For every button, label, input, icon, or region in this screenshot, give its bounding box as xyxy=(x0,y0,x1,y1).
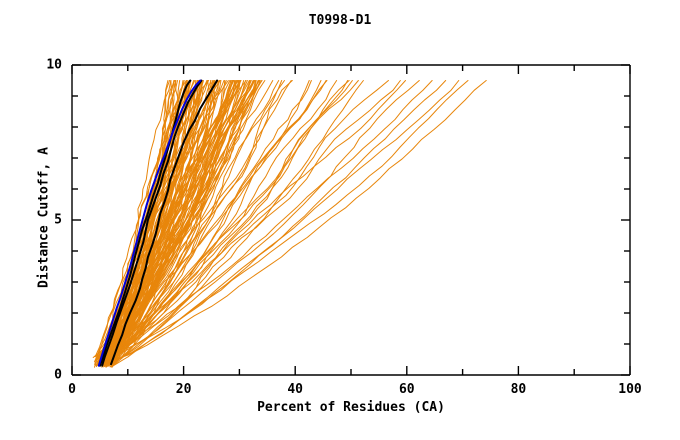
x-axis-title: Percent of Residues (CA) xyxy=(72,400,630,415)
chart-page: T0998-D1 0204060801000510 Percent of Res… xyxy=(0,0,680,440)
y-tick-label: 10 xyxy=(28,58,62,73)
x-tick-label: 80 xyxy=(511,382,527,397)
x-tick-label: 100 xyxy=(618,382,641,397)
series-layer xyxy=(93,81,486,368)
plot-canvas xyxy=(0,0,680,440)
y-axis-title: Distance Cutoff, A xyxy=(37,108,52,328)
x-tick-label: 20 xyxy=(176,382,192,397)
x-tick-label: 0 xyxy=(68,382,76,397)
x-tick-label: 60 xyxy=(399,382,415,397)
x-tick-label: 40 xyxy=(287,382,303,397)
y-tick-label: 0 xyxy=(28,368,62,383)
